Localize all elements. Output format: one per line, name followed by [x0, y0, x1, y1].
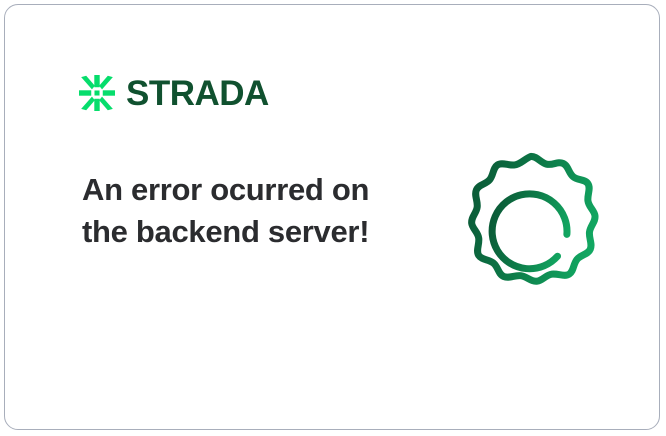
brand-wordmark: STRADA [126, 76, 269, 111]
brand-lockup: STRADA [79, 75, 269, 111]
gear-cog-icon [453, 147, 609, 303]
error-card: STRADA An error ocurred on the backend s… [4, 4, 660, 430]
error-message: An error ocurred on the backend server! [82, 169, 382, 254]
strada-asterisk-icon [79, 75, 115, 111]
